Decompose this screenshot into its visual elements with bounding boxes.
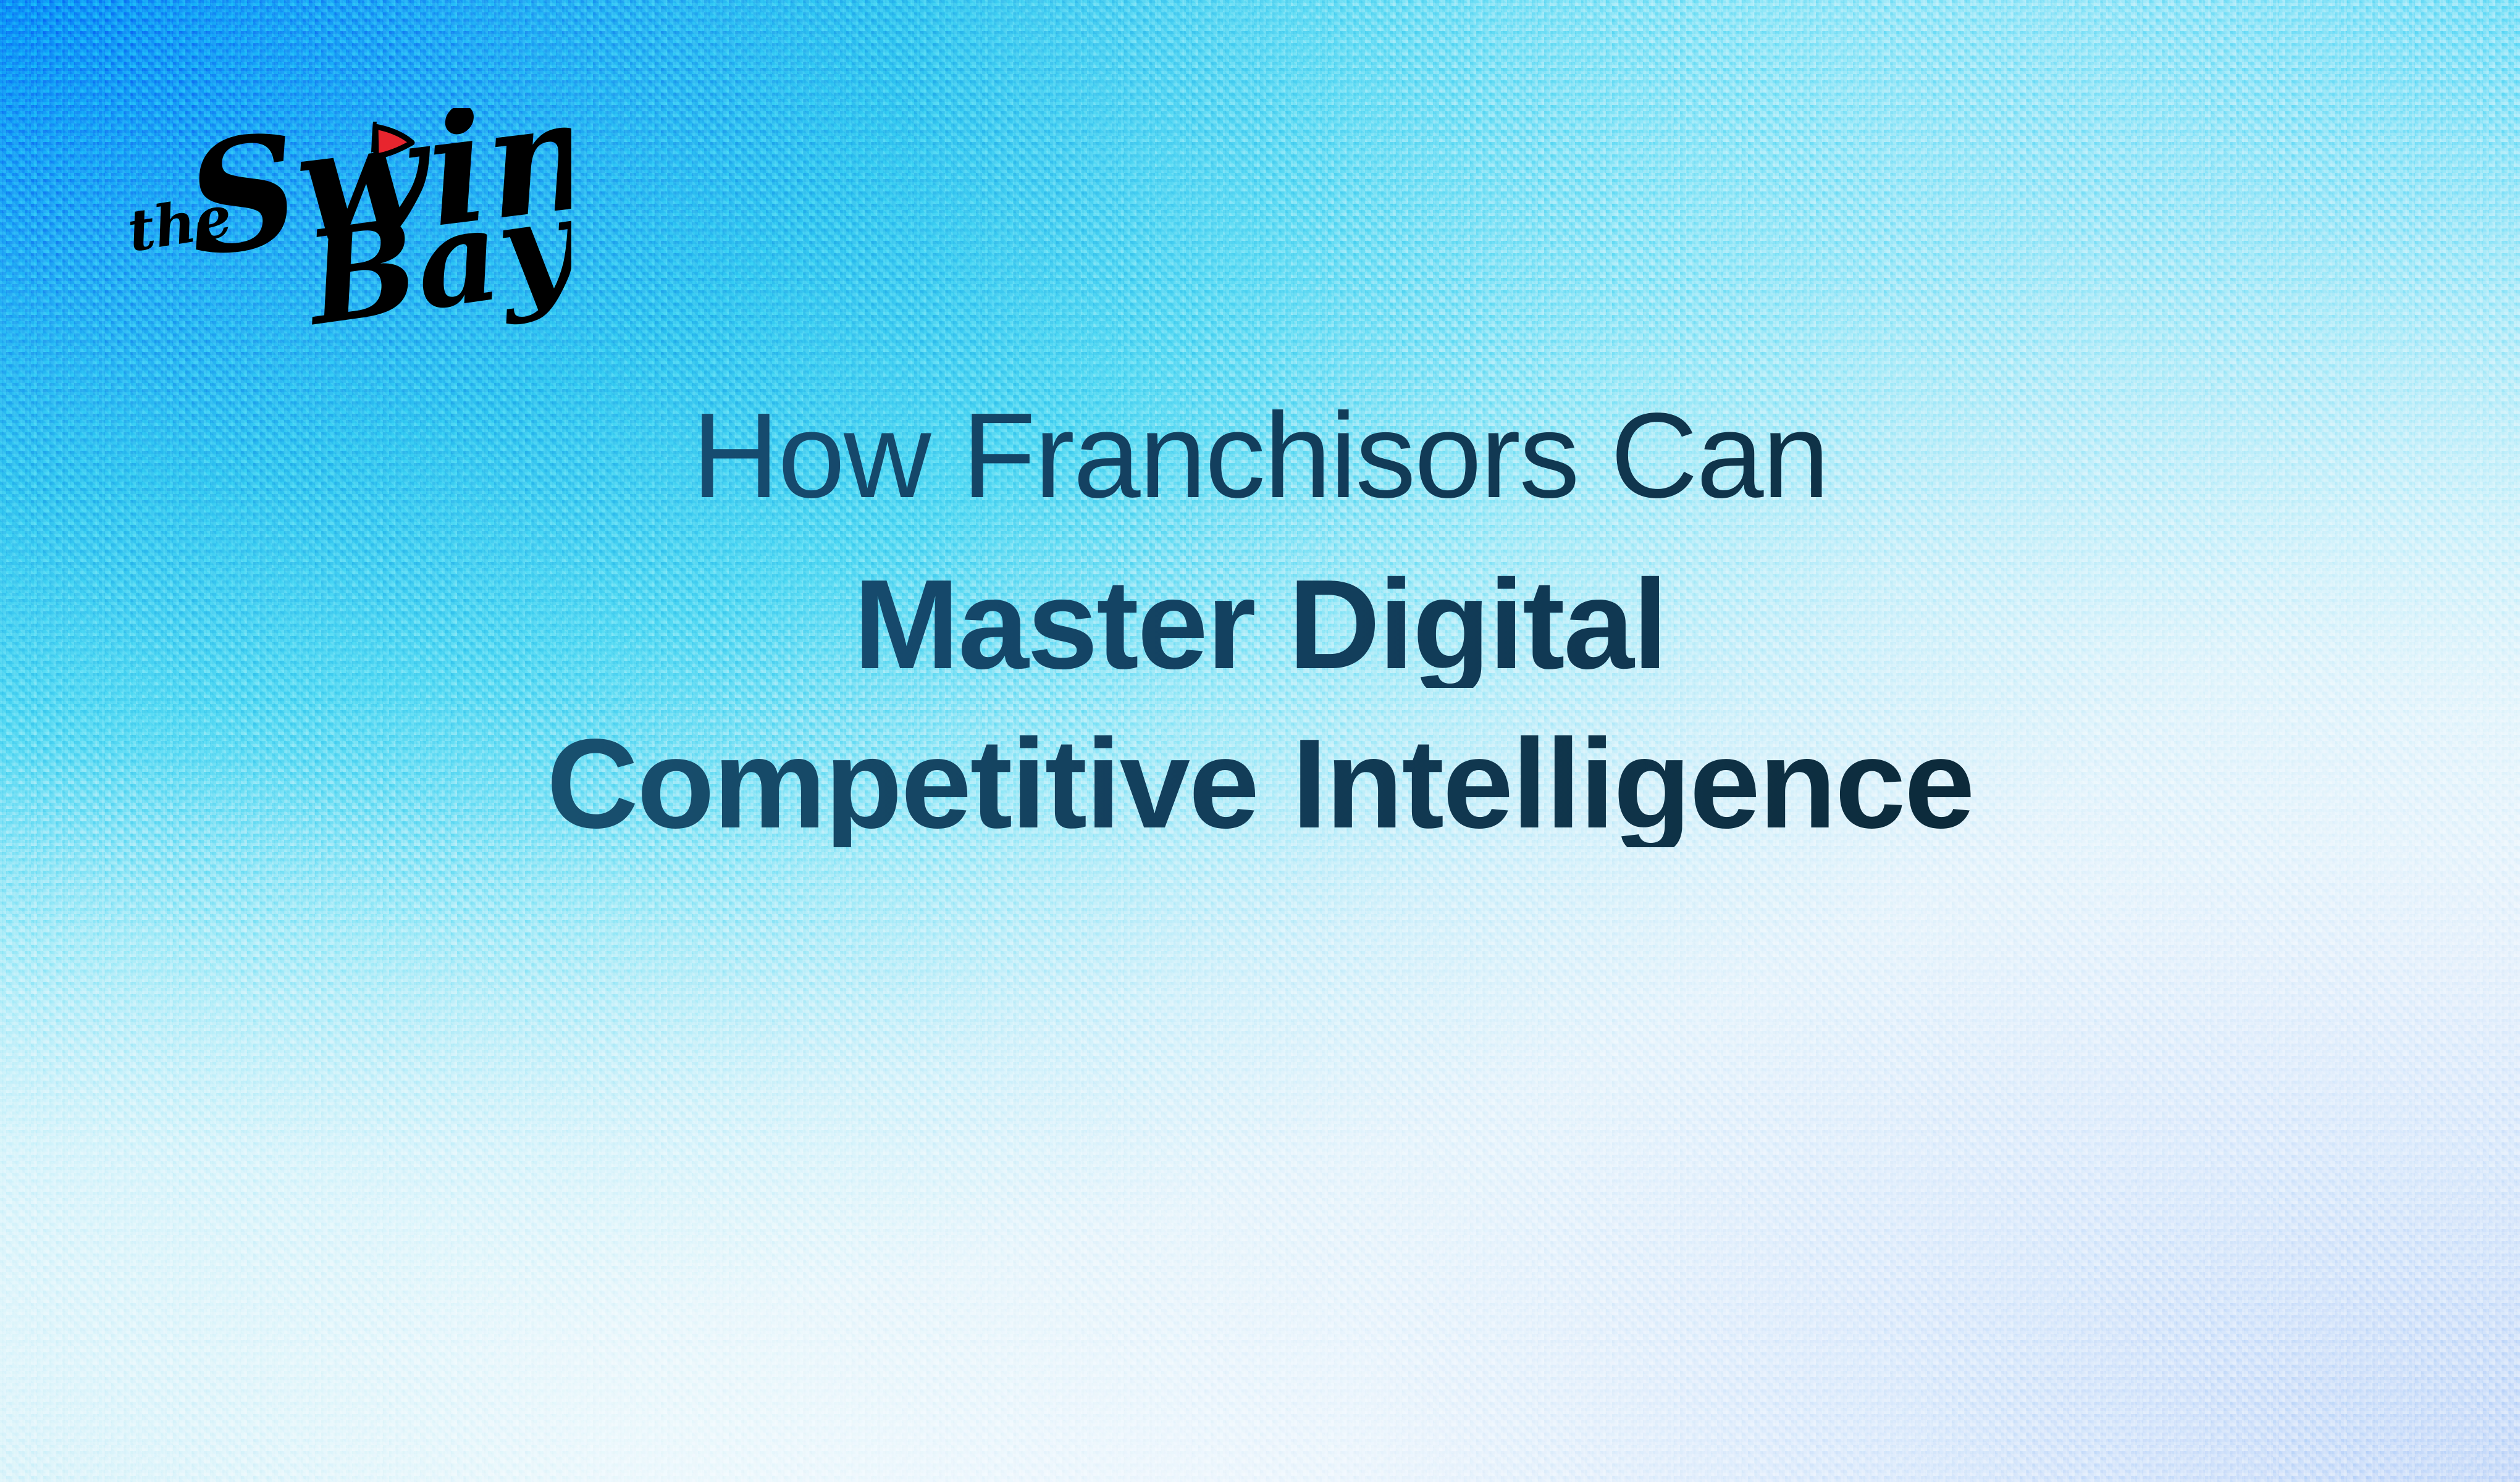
headline-line-2: Master Digital <box>0 561 2520 688</box>
slide-canvas: the Swing Bays How Franchisors Can Maste… <box>0 0 2520 1482</box>
headline-line-3: Competitive Intelligence <box>0 720 2520 847</box>
headline-line-1: How Franchisors Can <box>0 395 2520 516</box>
brand-logo[interactable]: the Swing Bays <box>127 108 571 355</box>
page-title: How Franchisors Can Master Digital Compe… <box>0 395 2520 847</box>
